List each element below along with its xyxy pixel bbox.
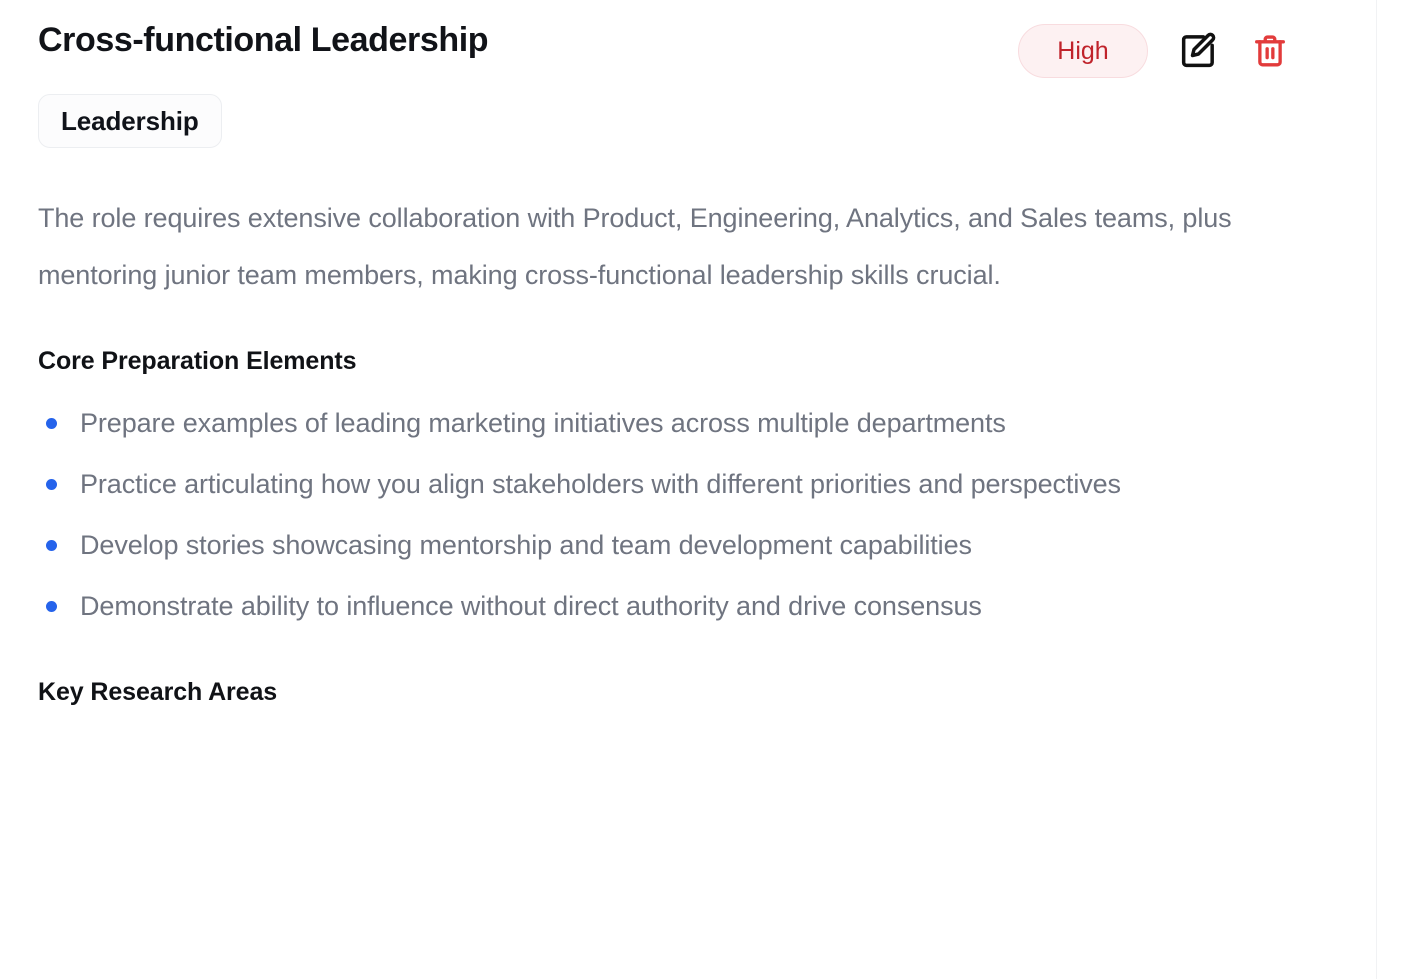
- bullet-dot-icon: [46, 601, 57, 612]
- bullet-dot-icon: [46, 540, 57, 551]
- title-block: Cross-functional Leadership: [38, 20, 1018, 60]
- list-item: Develop stories showcasing mentorship an…: [38, 520, 1278, 570]
- bullet-dot-icon: [46, 479, 57, 490]
- status-badge-priority: High: [1018, 24, 1148, 78]
- list-item-text: Practice articulating how you align stak…: [80, 469, 1121, 499]
- detail-header: Cross-functional Leadership High: [38, 0, 1344, 78]
- core-preparation-list: Prepare examples of leading marketing in…: [38, 398, 1278, 631]
- page-title: Cross-functional Leadership: [38, 20, 1018, 60]
- list-item-text: Prepare examples of leading marketing in…: [80, 408, 1006, 438]
- delete-button[interactable]: [1248, 29, 1292, 73]
- list-item: Demonstrate ability to influence without…: [38, 581, 1278, 631]
- task-detail-pane: Cross-functional Leadership High: [0, 0, 1422, 979]
- square-pen-icon: [1178, 31, 1218, 71]
- summary-paragraph: The role requires extensive collaboratio…: [38, 190, 1263, 304]
- trash-icon: [1251, 32, 1289, 70]
- list-item-text: Develop stories showcasing mentorship an…: [80, 530, 972, 560]
- tag-chip-leadership[interactable]: Leadership: [38, 94, 222, 148]
- detail-content-scroll-area[interactable]: Cross-functional Leadership High: [0, 0, 1376, 979]
- bullet-dot-icon: [46, 418, 57, 429]
- list-item-text: Demonstrate ability to influence without…: [80, 591, 982, 621]
- section-heading-core-preparation-elements: Core Preparation Elements: [38, 346, 1344, 376]
- tag-row: Leadership: [38, 94, 1344, 148]
- pane-divider: [1376, 0, 1377, 979]
- list-item: Prepare examples of leading marketing in…: [38, 398, 1278, 448]
- section-heading-key-research-areas: Key Research Areas: [38, 677, 1344, 707]
- list-item: Practice articulating how you align stak…: [38, 459, 1278, 509]
- header-actions: High: [1018, 20, 1344, 78]
- edit-button[interactable]: [1176, 29, 1220, 73]
